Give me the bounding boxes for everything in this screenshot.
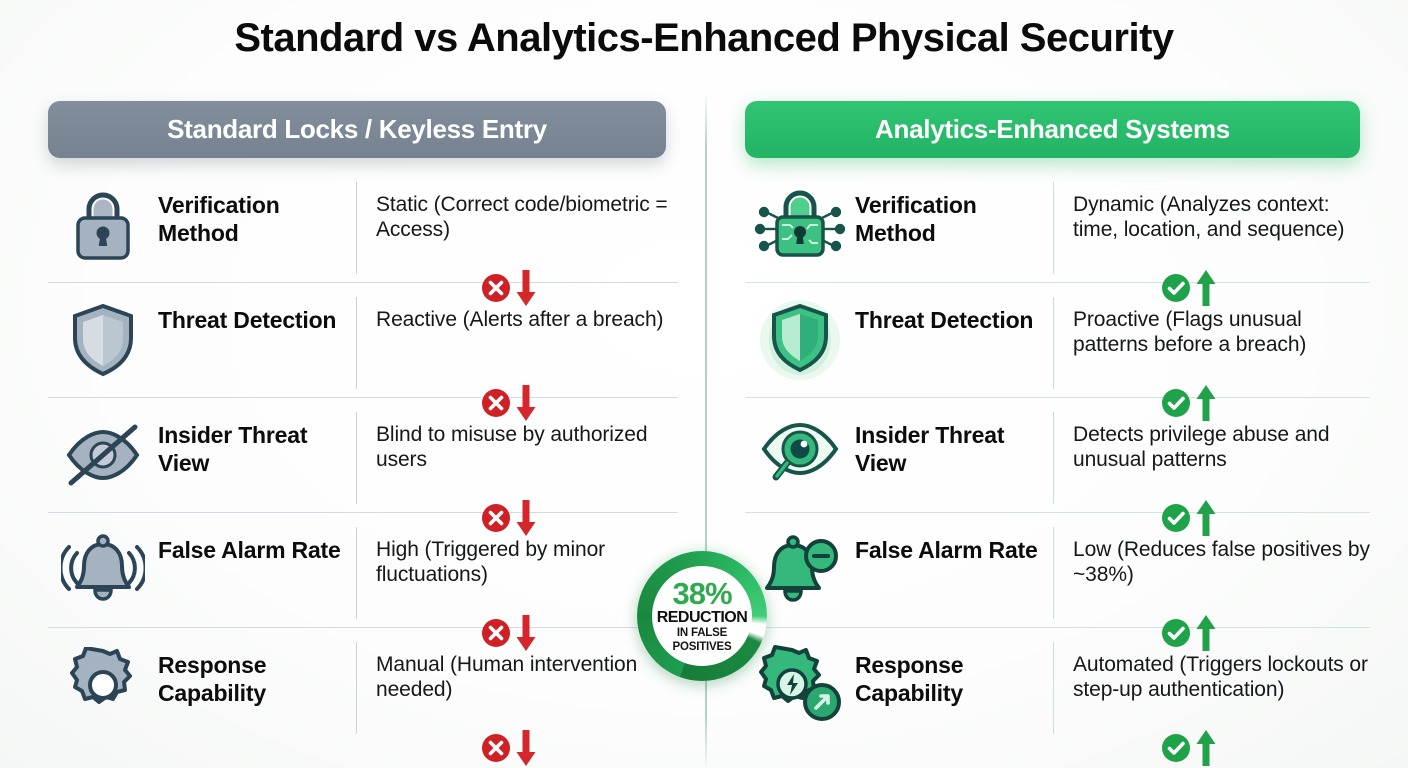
table-row: False Alarm Rate High (Triggered by mino… (48, 513, 678, 628)
row-label: False Alarm Rate (158, 513, 356, 564)
negative-indicator (480, 498, 537, 538)
arrow-down-icon (515, 383, 537, 423)
table-row: Insider Threat View Detects privilege ab… (745, 398, 1370, 513)
arrow-up-icon (1195, 728, 1217, 768)
bell-ringing-icon (48, 513, 158, 619)
gear-icon (48, 628, 158, 734)
x-circle-icon (480, 387, 512, 419)
reduction-badge: 38% REDUCTION IN FALSE POSITIVES (637, 551, 767, 681)
negative-indicator (480, 383, 537, 423)
arrow-down-icon (515, 268, 537, 308)
arrow-up-icon (1195, 613, 1217, 653)
badge-subline-1: IN FALSE (677, 627, 727, 640)
arrow-up-icon (1195, 268, 1217, 308)
table-row: Response Capability Automated (Triggers … (745, 628, 1370, 743)
table-row: Verification Method Static (Correct code… (48, 168, 678, 283)
page-title: Standard vs Analytics-Enhanced Physical … (0, 16, 1408, 61)
column-header-analytics: Analytics-Enhanced Systems (745, 101, 1360, 158)
smart-padlock-circuit-icon (745, 168, 855, 274)
negative-indicator (480, 268, 537, 308)
analytics-column-rows: Verification Method Dynamic (Analyzes co… (745, 168, 1370, 748)
badge-content: 38% REDUCTION IN FALSE POSITIVES (652, 566, 752, 666)
row-label: Threat Detection (158, 283, 356, 334)
badge-percent: 38% (672, 578, 731, 609)
row-label: Threat Detection (855, 283, 1053, 334)
badge-headline: REDUCTION (657, 610, 748, 626)
shield-icon (48, 283, 158, 389)
eye-slash-icon (48, 398, 158, 504)
arrow-down-icon (515, 728, 537, 768)
badge-subline-2: POSITIVES (673, 641, 732, 654)
negative-indicator (480, 613, 537, 653)
x-circle-icon (480, 272, 512, 304)
arrow-down-icon (515, 613, 537, 653)
arrow-up-icon (1195, 498, 1217, 538)
x-circle-icon (480, 617, 512, 649)
negative-indicator (480, 728, 537, 768)
positive-indicator (1160, 498, 1217, 538)
check-circle-icon (1160, 272, 1192, 304)
standard-column-rows: Verification Method Static (Correct code… (48, 168, 678, 748)
table-row: Verification Method Dynamic (Analyzes co… (745, 168, 1370, 283)
eye-magnifier-icon (745, 398, 855, 504)
positive-indicator (1160, 728, 1217, 768)
table-row: Threat Detection Proactive (Flags unusua… (745, 283, 1370, 398)
positive-indicator (1160, 268, 1217, 308)
column-header-analytics-label: Analytics-Enhanced Systems (875, 114, 1230, 145)
padlock-icon (48, 168, 158, 274)
row-label: Verification Method (158, 168, 356, 247)
table-row: False Alarm Rate Low (Reduces false posi… (745, 513, 1370, 628)
x-circle-icon (480, 732, 512, 764)
arrow-down-icon (515, 498, 537, 538)
positive-indicator (1160, 383, 1217, 423)
check-circle-icon (1160, 387, 1192, 419)
column-header-standard: Standard Locks / Keyless Entry (48, 101, 666, 158)
arrow-up-icon (1195, 383, 1217, 423)
check-circle-icon (1160, 502, 1192, 534)
table-row: Insider Threat View Blind to misuse by a… (48, 398, 678, 513)
check-circle-icon (1160, 617, 1192, 649)
column-header-standard-label: Standard Locks / Keyless Entry (167, 114, 547, 145)
x-circle-icon (480, 502, 512, 534)
table-row: Response Capability Manual (Human interv… (48, 628, 678, 743)
row-label: Insider Threat View (158, 398, 356, 477)
row-label: Verification Method (855, 168, 1053, 247)
row-label: Insider Threat View (855, 398, 1053, 477)
shield-radar-icon (745, 283, 855, 389)
row-label: Response Capability (855, 628, 1053, 707)
table-row: Threat Detection Reactive (Alerts after … (48, 283, 678, 398)
check-circle-icon (1160, 732, 1192, 764)
row-description: Static (Correct code/biometric = Access) (357, 168, 678, 242)
row-description: Dynamic (Analyzes context: time, locatio… (1054, 168, 1370, 242)
row-label: False Alarm Rate (855, 513, 1053, 564)
row-label: Response Capability (158, 628, 356, 707)
positive-indicator (1160, 613, 1217, 653)
